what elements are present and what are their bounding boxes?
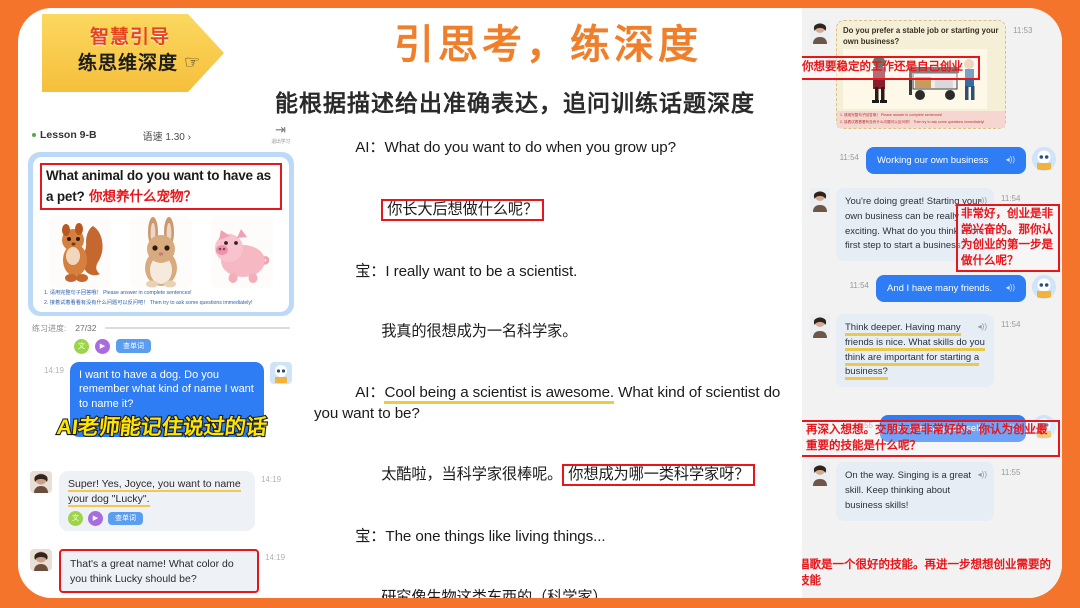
avatar: [30, 471, 52, 493]
bubble-text: That's a great name! What color do you t…: [70, 558, 234, 584]
play-icon[interactable]: ▶: [88, 511, 103, 526]
line-zh: 太酷啦，当科学家很棒呢。: [381, 466, 562, 483]
chat-row-ai: Think deeper. Having many friends is nic…: [802, 302, 1062, 387]
chat-bubble-ai-boxed[interactable]: That's a great name! What color do you t…: [59, 549, 259, 598]
transcript-line: 研究像生物这类东西的（科学家）: [314, 568, 792, 599]
squirrel-image: [49, 216, 111, 288]
speaker-label: 宝：: [355, 527, 385, 547]
speaker-label: AI：: [355, 138, 384, 158]
right-panel: Do you prefer a stable job or starting y…: [802, 8, 1062, 598]
bubble-text: I want to have a dog. Do you remember wh…: [79, 369, 254, 411]
bubble-text: Think deeper. Having many friends is nic…: [845, 322, 985, 380]
right-red-annotation-4: 唱歌是一个很好的技能。再进一步想想创业需要的技能: [802, 558, 1054, 589]
bubble-text: Working our own business: [877, 155, 988, 166]
exit-icon: ⇥: [271, 124, 290, 135]
tip-line-1: 1. 请用完整句子回答哦！ Please answer in complete …: [40, 288, 282, 298]
bubble-text: On the way. Singing is a great skill. Ke…: [845, 470, 971, 510]
exit-caption: 退出学习: [271, 139, 290, 145]
avatar: [270, 362, 292, 384]
avatar: [810, 314, 830, 338]
message-time: 11:55: [1001, 468, 1020, 477]
bubble-text: And I have many friends.: [887, 283, 992, 294]
transcript-line: 宝：The one things like living things...: [314, 507, 792, 568]
avatar: [810, 462, 830, 486]
translate-icon[interactable]: 文: [68, 511, 83, 526]
left-banner-text: AI老师能记住说过的话: [24, 411, 299, 441]
lesson-screenshot: Lesson 9-B 语速 1.30 › ⇥ 退出学习 What animal …: [18, 118, 304, 598]
question-zh: 你想养什么宠物？: [89, 189, 197, 204]
annotation-boxed-zh: 你长大后想做什么呢？: [381, 199, 544, 221]
transcript-line: AI：Cool being a scientist is awesome. Wh…: [314, 363, 792, 444]
transcript-line: 宝：I really want to be a scientist.: [314, 241, 792, 302]
speaker-icon[interactable]: ◂)): [1006, 282, 1015, 293]
speed-selector[interactable]: 语速 1.30 ›: [143, 128, 191, 143]
transcript-panel: AI：What do you want to do when you grow …: [310, 116, 800, 598]
progress-bar: [105, 327, 290, 329]
line-en-highlight: Cool being a scientist is awesome.: [384, 384, 614, 404]
badge-line-1: 智慧引导: [60, 22, 200, 49]
left-panel: Lesson 9-B 语速 1.30 › ⇥ 退出学习 What animal …: [18, 118, 304, 598]
rabbit-image: [130, 216, 192, 288]
page-title: 引思考，练深度: [268, 22, 828, 68]
chat-bubble-ai[interactable]: Super! Yes, Joyce, you want to name your…: [59, 471, 255, 531]
progress-label: 练习进度:: [32, 323, 66, 334]
chat-bubble-ai[interactable]: On the way. Singing is a great skill. Ke…: [836, 462, 994, 520]
chat-row-ai: That's a great name! What color do you t…: [18, 541, 304, 598]
chat-row-user: 11:54 Working our own business ◂)): [802, 129, 1062, 174]
speaker-icon[interactable]: ◂)): [978, 469, 987, 481]
avatar: [810, 188, 830, 212]
message-controls: 文 ▶ 查单词: [18, 334, 304, 354]
speaker-icon[interactable]: ◂)): [978, 321, 987, 333]
white-card: 引思考，练深度 能根据描述给出准确表达，追问训练话题深度 Lesson 9-B …: [18, 8, 1062, 598]
slide-root: 引思考，练深度 能根据描述给出准确表达，追问训练话题深度 Lesson 9-B …: [0, 0, 1080, 608]
transcript-text: AI：What do you want to do when you grow …: [310, 116, 800, 598]
message-time: 11:54: [1001, 320, 1020, 329]
question-card: What animal do you want to have as a pet…: [28, 152, 294, 316]
lookup-word-button[interactable]: 查单词: [116, 339, 151, 353]
speaker-label: 宝：: [355, 262, 385, 282]
right-red-annotation-2: 非常好，创业是非常兴奋的。那你认为创业的第一步是做什么呢？: [956, 204, 1060, 272]
chat-bubble-user[interactable]: And I have many friends. ◂)): [876, 275, 1026, 302]
status-dot-icon: [32, 133, 36, 137]
chat-bubble-user[interactable]: Working our own business ◂)): [866, 147, 1026, 174]
line-en: I really want to be a scientist.: [385, 263, 577, 280]
line-zh: 我真的很想成为一名科学家。: [381, 323, 577, 340]
message-time: 11:53: [1013, 26, 1032, 35]
message-time: 14:19: [44, 366, 64, 375]
image-card-footnote-2: 2. 接着试着看看有没有什么问题可以反问吧！ Then try to ask s…: [837, 118, 1005, 127]
bubble-text: Super! Yes, Joyce, you want to name your…: [68, 478, 241, 506]
message-time: 11:54: [840, 153, 859, 162]
message-time: 14:19: [261, 475, 281, 484]
pig-image: [211, 216, 273, 288]
right-red-annotation-3: 再深入想想。交朋友是非常好的。你认为创业最重要的技能是什么呢？: [802, 420, 1060, 457]
transcript-line: 你长大后想做什么呢？: [314, 179, 792, 242]
pointing-hand-icon: ☞: [184, 52, 200, 73]
speaker-label: AI：: [355, 383, 384, 403]
bubble-text-wrap: That's a great name! What color do you t…: [59, 549, 259, 593]
corner-badge: 智慧引导 练思维深度 ☞: [38, 14, 228, 92]
image-card-question: Do you prefer a stable job or starting y…: [843, 26, 999, 47]
line-en: The one things like living things...: [385, 528, 605, 545]
avatar: [30, 549, 52, 571]
page-subtitle: 能根据描述给出准确表达，追问训练话题深度: [190, 84, 840, 118]
lesson-header: Lesson 9-B 语速 1.30 › ⇥ 退出学习: [18, 118, 304, 148]
tip-line-2: 2. 接着试着看看有没有什么问题可以反问吧！ Then try to ask s…: [40, 298, 282, 308]
lookup-word-button[interactable]: 查单词: [108, 512, 143, 526]
chat-row-ai: Super! Yes, Joyce, you want to name your…: [18, 463, 304, 531]
avatar: [1032, 147, 1056, 171]
play-icon[interactable]: ▶: [95, 339, 110, 354]
message-time: 11:54: [1001, 194, 1020, 203]
message-time: 14:19: [265, 553, 285, 562]
message-time: 11:54: [850, 281, 869, 290]
line-en: What do you want to do when you grow up?: [384, 139, 676, 156]
transcript-line: AI：What do you want to do when you grow …: [314, 118, 792, 179]
translate-icon[interactable]: 文: [74, 339, 89, 354]
transcript-line: 我真的很想成为一名科学家。: [314, 302, 792, 363]
avatar: [1032, 275, 1056, 299]
annotation-boxed-zh: 你想成为哪一类科学家呀？: [562, 464, 755, 486]
transcript-line: 太酷啦，当科学家很棒呢。你想成为哪一类科学家呀？: [314, 444, 792, 507]
progress-value: 27/32: [75, 323, 96, 333]
question-box: What animal do you want to have as a pet…: [40, 163, 282, 210]
progress-row: 练习进度: 27/32: [18, 316, 304, 334]
line-zh: 研究像生物这类东西的（科学家）: [381, 589, 607, 598]
right-red-annotation-1: 你想要稳定的工作还是自己创业: [802, 56, 980, 80]
chat-thread: Do you prefer a stable job or starting y…: [802, 8, 1062, 598]
exit-button[interactable]: ⇥ 退出学习: [271, 124, 290, 146]
chat-bubble-ai[interactable]: Think deeper. Having many friends is nic…: [836, 314, 994, 387]
animal-images: [40, 214, 282, 288]
lesson-label: Lesson 9-B: [40, 129, 97, 141]
speaker-icon[interactable]: ◂)): [1006, 154, 1015, 165]
